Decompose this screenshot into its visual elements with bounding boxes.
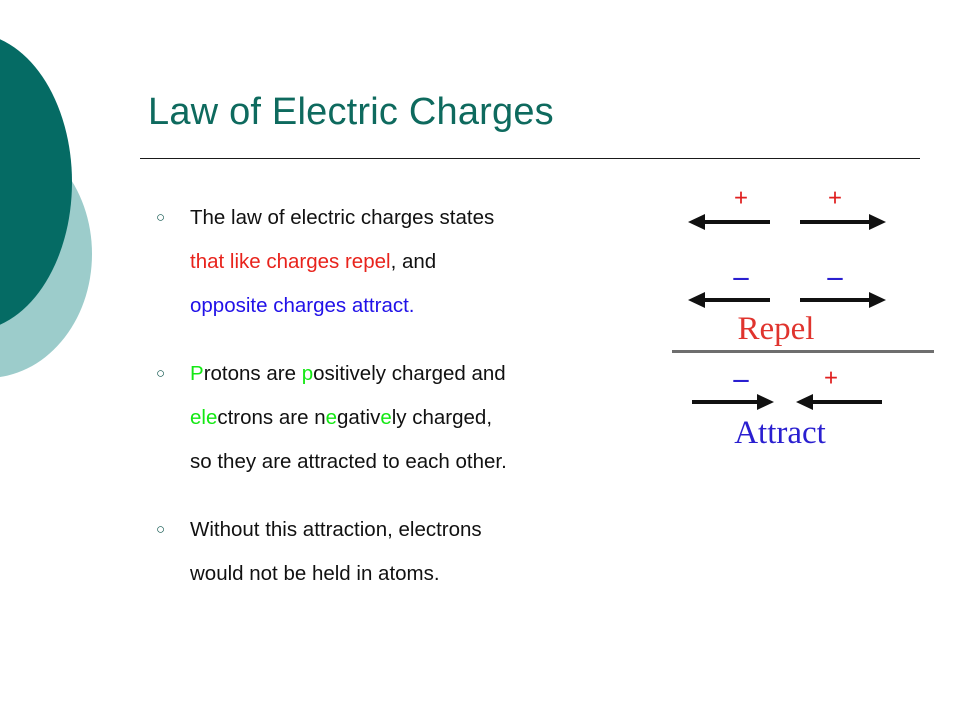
arrow-left-icon (688, 292, 770, 308)
title-divider (140, 158, 920, 159)
bullet-line: Without this attraction, electrons (190, 508, 672, 552)
bullet-line: The law of electric charges states (190, 196, 672, 240)
bullet-span-highlight-green: e (326, 406, 337, 429)
bullet-span: gativ (337, 406, 380, 429)
bullet-span: ositively charged and (313, 362, 506, 385)
bullet-line: that like charges repel, and (190, 240, 672, 284)
bullet-span-highlight-green: p (302, 362, 313, 385)
attract-label: Attract (646, 414, 914, 452)
bullet-span: would not be held in atoms. (190, 562, 440, 585)
bullet-span-highlight-green: e (380, 406, 391, 429)
plus-sign-icon: + (818, 366, 844, 392)
bullet-line: would not be held in atoms. (190, 552, 672, 596)
bullet-span-highlight-blue: opposite charges attract. (190, 294, 415, 317)
bullet-line: Protons are positively charged and (190, 352, 672, 396)
slide-title: Law of Electric Charges (148, 92, 908, 134)
minus-sign-icon: – (728, 366, 754, 392)
bullet-item-2: ○ Protons are positively charged and ele… (152, 352, 672, 484)
hollow-circle-icon: ○ (156, 508, 170, 552)
attract-row-signs: – + (670, 366, 938, 392)
bullet-span-highlight-green: ele (190, 406, 217, 429)
hollow-circle-icon: ○ (156, 196, 170, 240)
bullet-item-1: ○ The law of electric charges states tha… (152, 196, 672, 328)
bullet-line: opposite charges attract. (190, 284, 672, 328)
slide-canvas: Law of Electric Charges ○ The law of ele… (0, 0, 960, 720)
bullet-span: ly charged, (392, 406, 492, 429)
minus-sign-icon: – (728, 264, 754, 290)
bullet-span: rotons are (204, 362, 302, 385)
repel-row-plus-arrows (670, 214, 938, 240)
bullet-span: Without this attraction, electrons (190, 518, 482, 541)
repel-label: Repel (642, 310, 910, 348)
hollow-circle-icon: ○ (156, 352, 170, 396)
diagram-divider (672, 350, 934, 353)
arrow-left-icon (688, 214, 770, 230)
arrow-right-icon (800, 292, 886, 308)
arrow-left-icon (796, 394, 882, 410)
bullet-item-3: ○ Without this attraction, electrons wou… (152, 508, 672, 596)
bullet-span: ctrons are n (217, 406, 325, 429)
minus-sign-icon: – (822, 264, 848, 290)
plus-sign-icon: + (822, 186, 848, 212)
bullet-line: electrons are negatively charged, (190, 396, 672, 440)
bullet-span-highlight-red: that like charges repel (190, 250, 391, 273)
bullet-list: ○ The law of electric charges states tha… (152, 196, 672, 596)
bullet-span: so they are attracted to each other. (190, 450, 507, 473)
charge-interaction-diagram: + + – – Repel – (670, 186, 938, 486)
bullet-span-highlight-green: P (190, 362, 204, 385)
bullet-span: , and (391, 250, 437, 273)
arrow-right-icon (800, 214, 886, 230)
repel-row-plus-signs: + + (670, 186, 938, 212)
arrow-right-icon (692, 394, 774, 410)
bullet-span: The law of electric charges states (190, 206, 494, 229)
repel-row-minus-signs: – – (670, 264, 938, 290)
plus-sign-icon: + (728, 186, 754, 212)
bullet-line: so they are attracted to each other. (190, 440, 672, 484)
